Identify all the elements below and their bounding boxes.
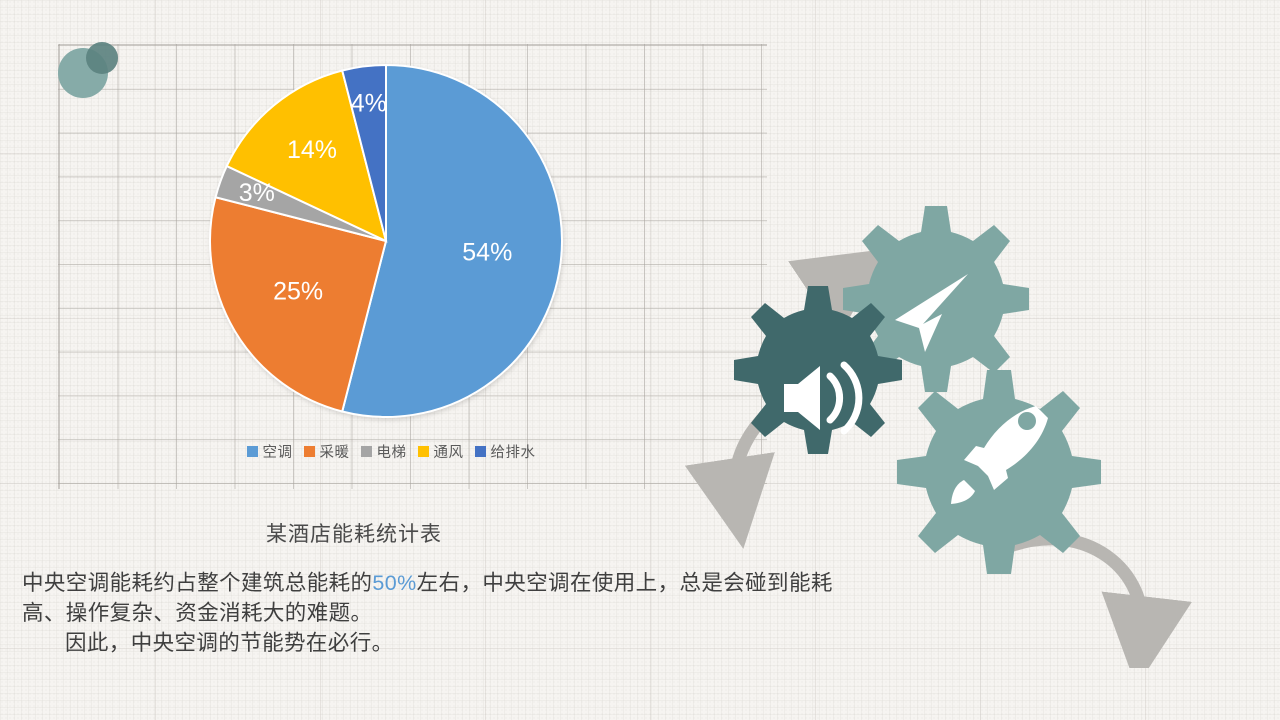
gears-illustration xyxy=(680,168,1280,668)
legend-label: 给排水 xyxy=(491,441,536,462)
pie-label-给排水: 4% xyxy=(351,89,387,117)
gear-bottom xyxy=(897,370,1101,574)
legend-label: 采暖 xyxy=(320,441,350,462)
pie-label-采暖: 25% xyxy=(273,278,323,306)
gear-left xyxy=(734,286,902,454)
legend-swatch-icon xyxy=(475,446,486,457)
legend-swatch-icon xyxy=(304,446,315,457)
legend-item-采暖[interactable]: 采暖 xyxy=(304,441,350,462)
body-highlight: 50% xyxy=(372,571,416,595)
arrow-right-loop-icon xyxy=(1010,539,1143,638)
legend-label: 电梯 xyxy=(377,441,407,462)
legend-item-电梯[interactable]: 电梯 xyxy=(361,441,407,462)
circles-logo xyxy=(58,42,118,98)
legend-label: 通风 xyxy=(434,441,464,462)
legend-label: 空调 xyxy=(263,441,293,462)
legend-item-通风[interactable]: 通风 xyxy=(418,441,464,462)
legend-item-给排水[interactable]: 给排水 xyxy=(475,441,536,462)
logo-circle-small xyxy=(86,42,118,74)
pie-label-空调: 54% xyxy=(462,238,512,266)
chart-title: 某酒店能耗统计表 xyxy=(0,518,708,548)
legend-swatch-icon xyxy=(418,446,429,457)
legend-swatch-icon xyxy=(361,446,372,457)
pie-chart: 54%25%3%14%4% xyxy=(206,61,566,421)
legend-item-空调[interactable]: 空调 xyxy=(247,441,293,462)
legend-swatch-icon xyxy=(247,446,258,457)
body-line1-before: 中央空调能耗约占整个建筑总能耗的 xyxy=(22,571,372,595)
chart-legend: 空调采暖电梯通风给排水 xyxy=(206,440,576,462)
pie-label-通风: 14% xyxy=(287,136,337,164)
pie-label-电梯: 3% xyxy=(239,179,275,207)
